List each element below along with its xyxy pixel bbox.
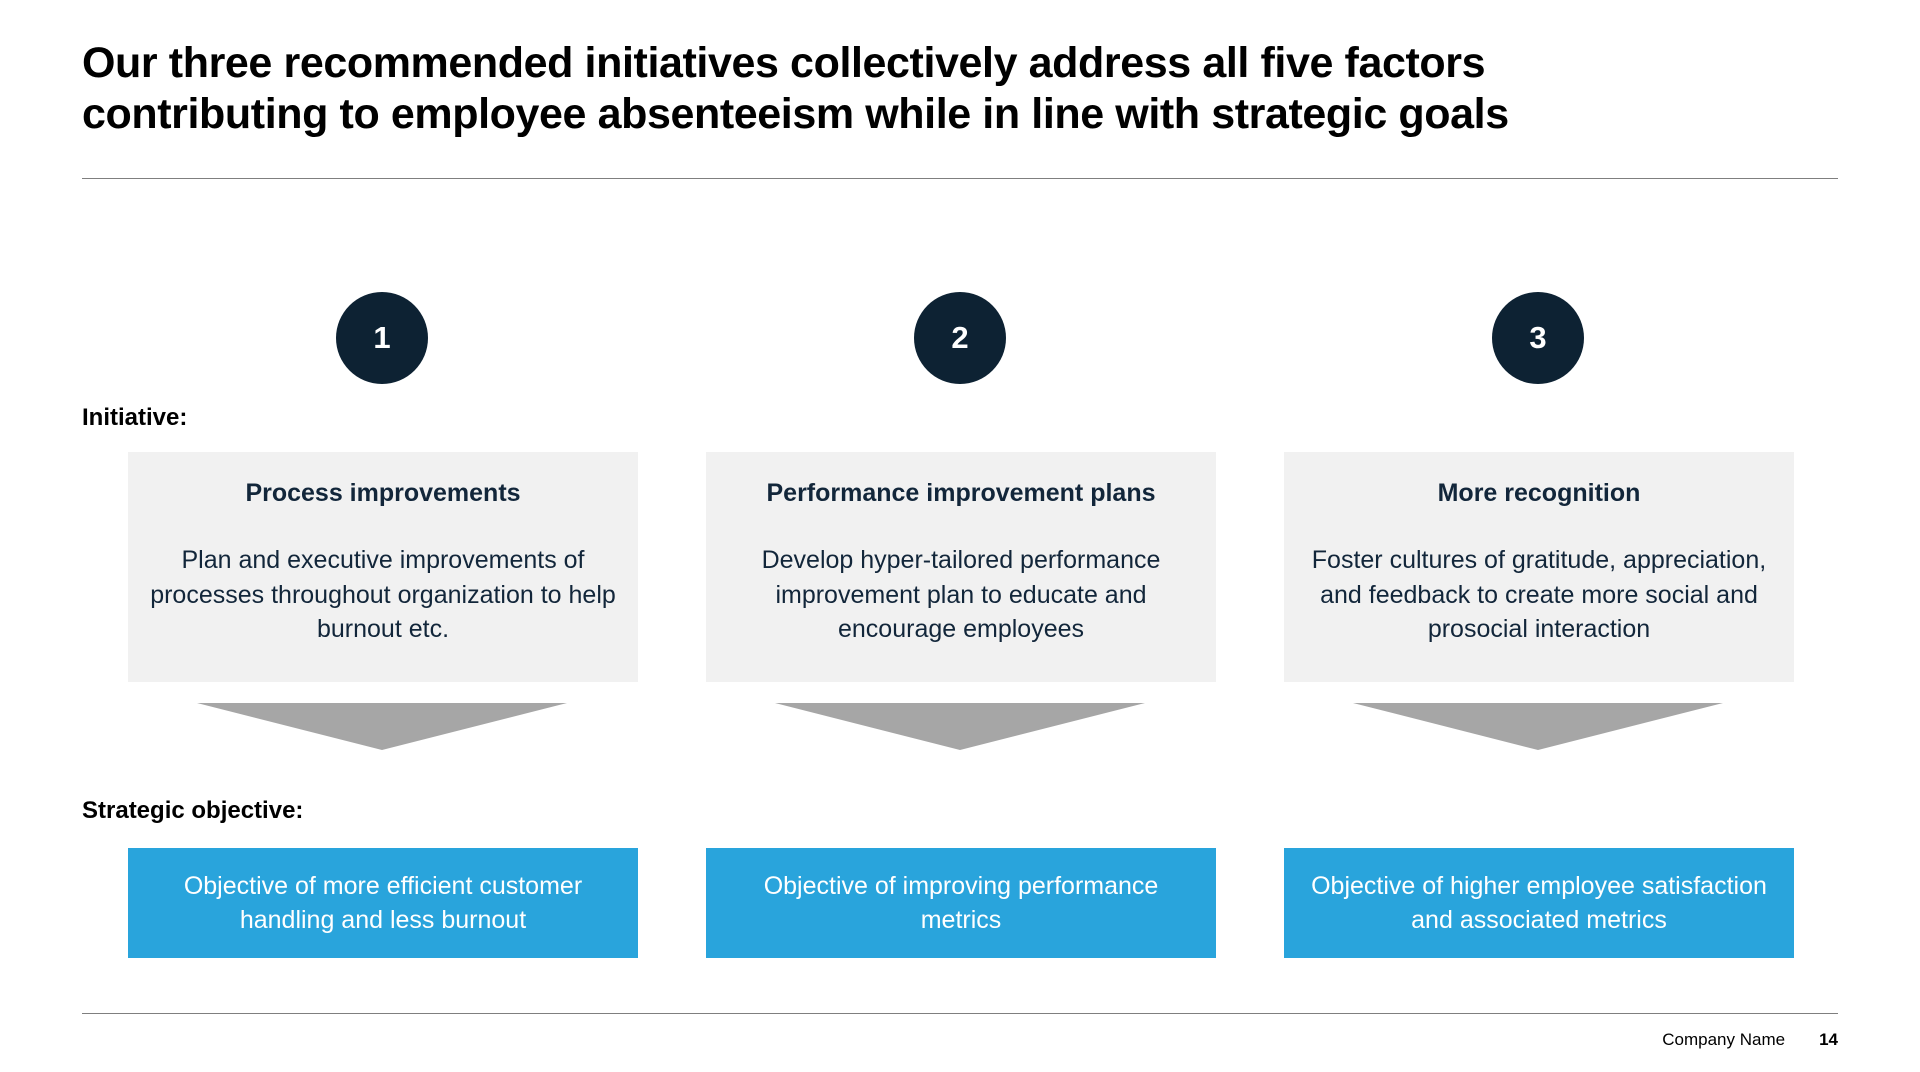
footer-company-name: Company Name (1662, 1030, 1785, 1050)
step-number-label-3: 3 (1529, 320, 1546, 356)
down-arrow-icon-2 (775, 703, 1145, 751)
footer: Company Name 14 (1662, 1030, 1838, 1050)
page-title-line-2: contributing to employee absenteeism whi… (82, 89, 1842, 140)
objective-box-1: Objective of more efficient customer han… (128, 848, 638, 958)
down-arrow-icon-1 (197, 703, 567, 751)
objective-box-2: Objective of improving performance metri… (706, 848, 1216, 958)
header-divider (82, 178, 1838, 179)
footer-divider (82, 1013, 1838, 1014)
initiative-card-title-1: Process improvements (142, 478, 624, 509)
initiative-card-body-2: Develop hyper-tailored performance impro… (720, 543, 1202, 647)
step-number-label-1: 1 (373, 320, 390, 356)
initiative-card-title-2: Performance improvement plans (720, 478, 1202, 509)
page-title-line-1: Our three recommended initiatives collec… (82, 38, 1842, 89)
initiative-column-2: Performance improvement plans Develop hy… (706, 452, 1216, 682)
initiative-card-3: More recognition Foster cultures of grat… (1284, 452, 1794, 682)
step-number-badge-1: 1 (336, 292, 428, 384)
down-arrow-icon-3 (1353, 703, 1723, 751)
objective-box-3: Objective of higher employee satisfactio… (1284, 848, 1794, 958)
objective-text-3: Objective of higher employee satisfactio… (1302, 869, 1776, 938)
row-label-strategic-objective: Strategic objective: (82, 797, 303, 825)
objective-text-1: Objective of more efficient customer han… (146, 869, 620, 938)
initiative-card-1: Process improvements Plan and executive … (128, 452, 638, 682)
row-label-initiative: Initiative: (82, 404, 187, 432)
step-number-label-2: 2 (951, 320, 968, 356)
initiative-column-3: More recognition Foster cultures of grat… (1284, 452, 1794, 682)
initiative-card-title-3: More recognition (1298, 478, 1780, 509)
initiative-card-body-3: Foster cultures of gratitude, appreciati… (1298, 543, 1780, 647)
step-number-badge-3: 3 (1492, 292, 1584, 384)
objective-text-2: Objective of improving performance metri… (724, 869, 1198, 938)
step-number-badge-2: 2 (914, 292, 1006, 384)
slide-canvas: Our three recommended initiatives collec… (0, 0, 1920, 1072)
initiative-column-1: Process improvements Plan and executive … (128, 452, 638, 682)
footer-page-number: 14 (1819, 1030, 1838, 1050)
initiative-card-body-1: Plan and executive improvements of proce… (142, 543, 624, 647)
page-title: Our three recommended initiatives collec… (82, 38, 1842, 139)
initiative-card-2: Performance improvement plans Develop hy… (706, 452, 1216, 682)
